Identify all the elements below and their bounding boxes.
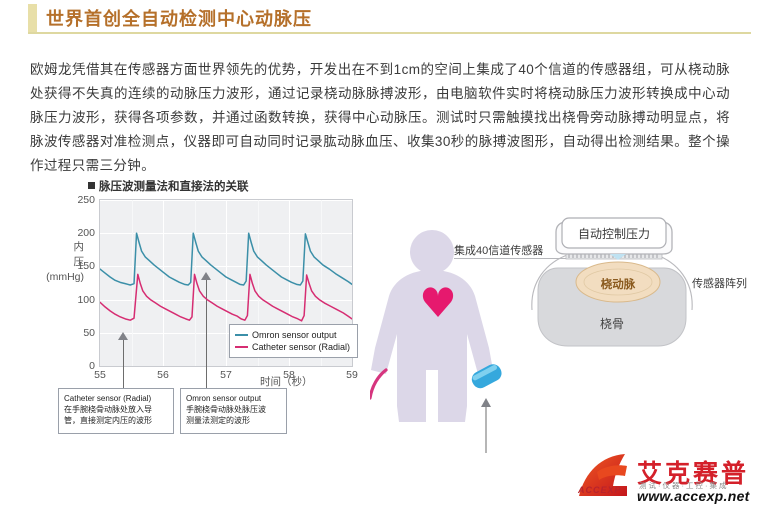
legend-swatch-omron (235, 334, 248, 336)
callout-catheter-line1: 在手腕桡骨动脉处放入导 (64, 404, 168, 415)
chart-caption-text: 脉压波测量法和直接法的关联 (99, 181, 249, 193)
wrist-device-arrow-icon (481, 398, 491, 407)
title-accent-bar (28, 4, 37, 32)
callout-catheter-line2: 管，直接测定内压的波形 (64, 415, 168, 426)
chart-y-tick: 100 (77, 294, 95, 306)
chart-caption: 脉压波测量法和直接法的关联 (88, 178, 249, 194)
illustration-graphic: 桡骨 桡动脉 (370, 210, 759, 460)
chart-y-tick: 250 (77, 194, 95, 206)
chart-x-axis-label: 时间（秒） (260, 374, 313, 389)
sensor-illustration: 桡骨 桡动脉 (370, 210, 759, 460)
y-axis-label-line3: (mmHg) (12, 270, 84, 285)
title-divider (28, 32, 751, 34)
callout-catheter-title: Catheter sensor (Radial) (64, 393, 168, 404)
artery-label: 桡动脉 (601, 277, 636, 291)
chart-y-tick: 200 (77, 227, 95, 239)
company-logo[interactable]: ACCEXP 艾克赛普 测试·仪器·工控·集成 www.accexp.net (575, 452, 755, 506)
chart-y-tick: 50 (83, 327, 95, 339)
callout-omron-line2: 测量法测定的波形 (186, 415, 281, 426)
chart-x-tick: 55 (94, 369, 106, 381)
pulse-pressure-chart: 脉压波测量法和直接法的关联 0501001502002505556575859 … (88, 178, 353, 393)
chart-legend: Omron sensor output Catheter sensor (Rad… (229, 324, 358, 358)
logo-url[interactable]: www.accexp.net (637, 488, 750, 504)
y-axis-label-line1: 内 (12, 240, 84, 255)
bone-label: 桡骨 (600, 316, 624, 331)
page-title: 世界首创全自动检测中心动脉压 (46, 5, 312, 31)
sensor-integration-label: 集成40信道传感器 (454, 242, 543, 258)
legend-item-catheter: Catheter sensor (Radial) (235, 341, 350, 353)
caption-bullet-icon (88, 182, 95, 189)
artery-line (370, 370, 386, 398)
sensor-integration-underline (454, 258, 566, 259)
chart-x-tick: 56 (157, 369, 169, 381)
sensor-array-label: 传感器阵列 (692, 275, 747, 291)
intro-paragraph: 欧姆龙凭借其在传感器方面世界领先的优势，开发出在不到1cm的空间上集成了40个信… (30, 58, 730, 178)
callout-omron-line1: 手腕桡骨动脉处脉压波 (186, 404, 281, 415)
callout-omron-title: Omron sensor output (186, 393, 281, 404)
page-header: 世界首创全自动检测中心动脉压 (0, 0, 759, 36)
chart-y-axis-label: 内 压 (mmHg) (12, 240, 84, 285)
callout-omron: Omron sensor output 手腕桡骨动脉处脉压波 测量法测定的波形 (180, 388, 287, 434)
legend-label-catheter: Catheter sensor (Radial) (252, 341, 350, 353)
chart-x-tick: 59 (346, 369, 358, 381)
callout-catheter: Catheter sensor (Radial) 在手腕桡骨动脉处放入导 管，直… (58, 388, 174, 434)
logo-mark-text: ACCEXP (578, 485, 622, 495)
legend-label-omron: Omron sensor output (252, 329, 337, 341)
legend-item-omron: Omron sensor output (235, 329, 350, 341)
chart-x-tick: 57 (220, 369, 232, 381)
auto-pressure-label: 自动控制压力 (578, 227, 650, 241)
legend-swatch-catheter (235, 346, 248, 348)
y-axis-label-line2: 压 (12, 255, 84, 270)
chart-series-catheter (100, 274, 352, 320)
